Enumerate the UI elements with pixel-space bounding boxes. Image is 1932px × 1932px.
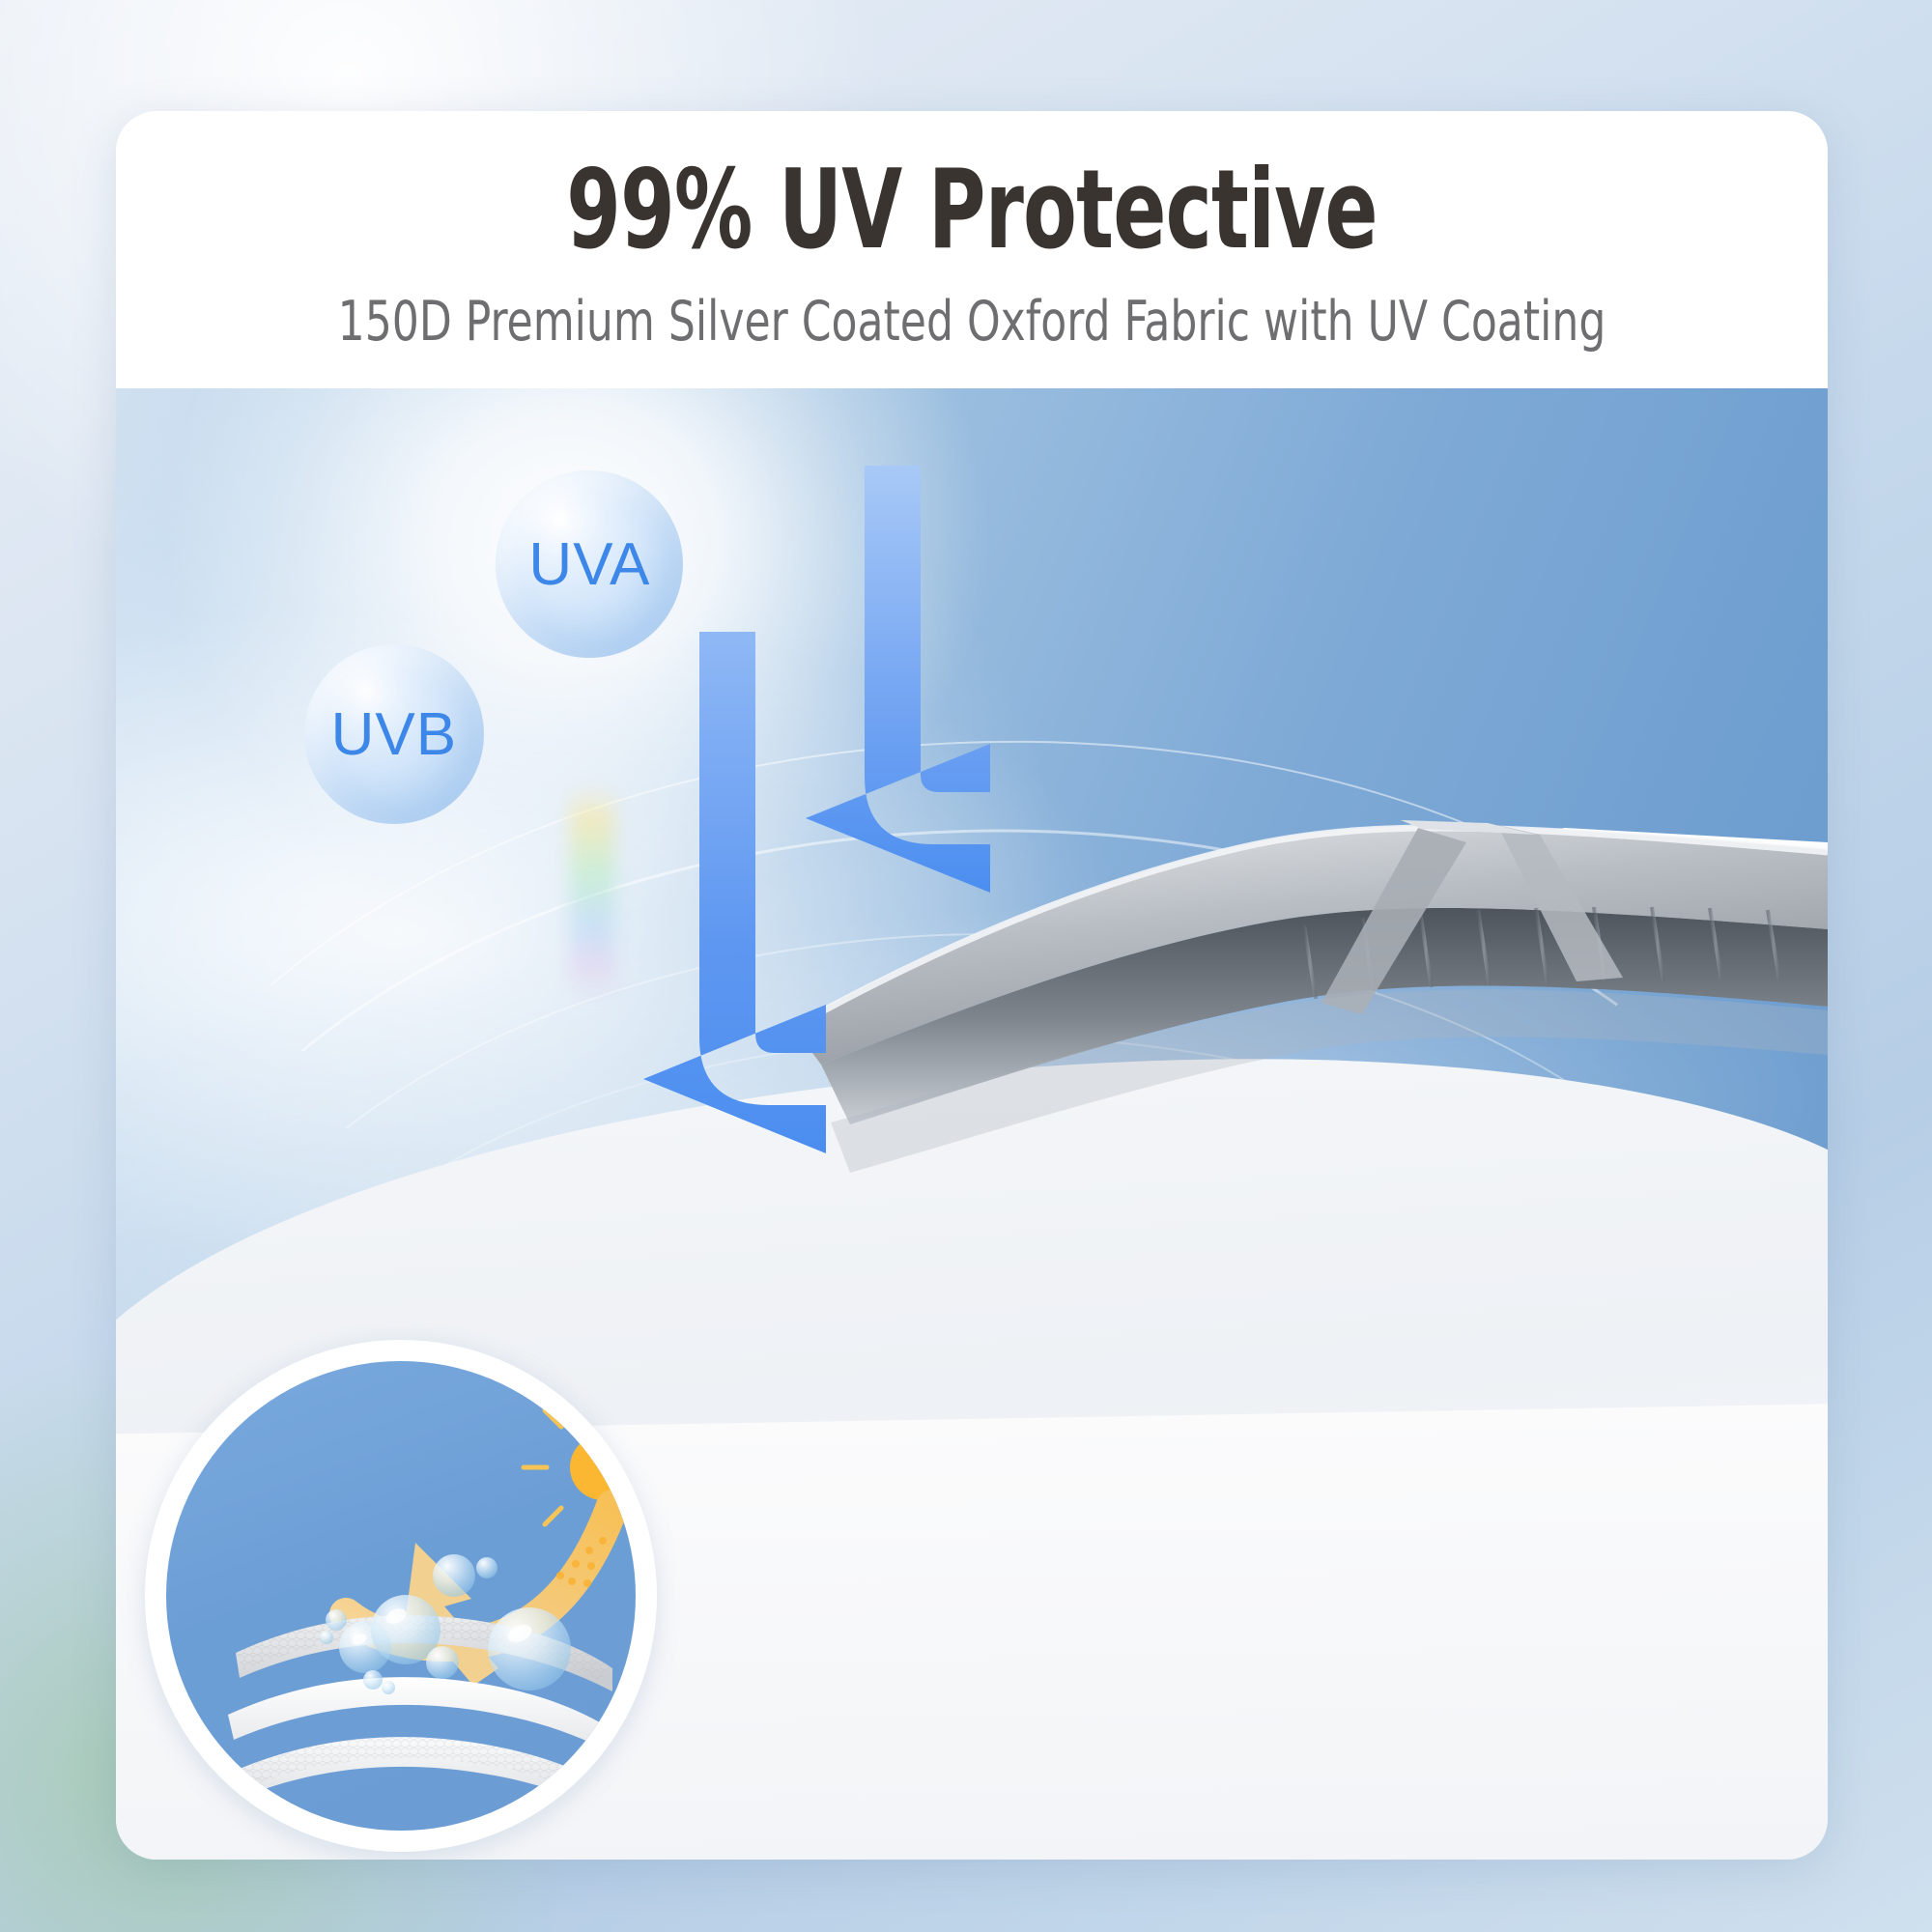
uvb-bubble-label: UVB xyxy=(331,700,457,769)
fabric-layers-inset xyxy=(145,1340,657,1852)
uva-arrow xyxy=(806,466,990,893)
card-header: 99% UV Protective 150D Premium Silver Co… xyxy=(116,111,1828,388)
product-feature-card: 99% UV Protective 150D Premium Silver Co… xyxy=(116,111,1828,1860)
fabric-diagram-svg xyxy=(166,1361,636,1831)
product-photo-panel: UVA UVB xyxy=(116,388,1828,1860)
page-subtitle: 150D Premium Silver Coated Oxford Fabric… xyxy=(236,290,1708,354)
uvb-bubble: UVB xyxy=(304,644,484,824)
fabric-layers-diagram xyxy=(166,1361,636,1831)
uvb-arrow xyxy=(643,632,826,1153)
uva-bubble: UVA xyxy=(496,470,683,658)
page-title: 99% UV Protective xyxy=(287,146,1657,273)
uva-bubble-label: UVA xyxy=(528,530,650,599)
